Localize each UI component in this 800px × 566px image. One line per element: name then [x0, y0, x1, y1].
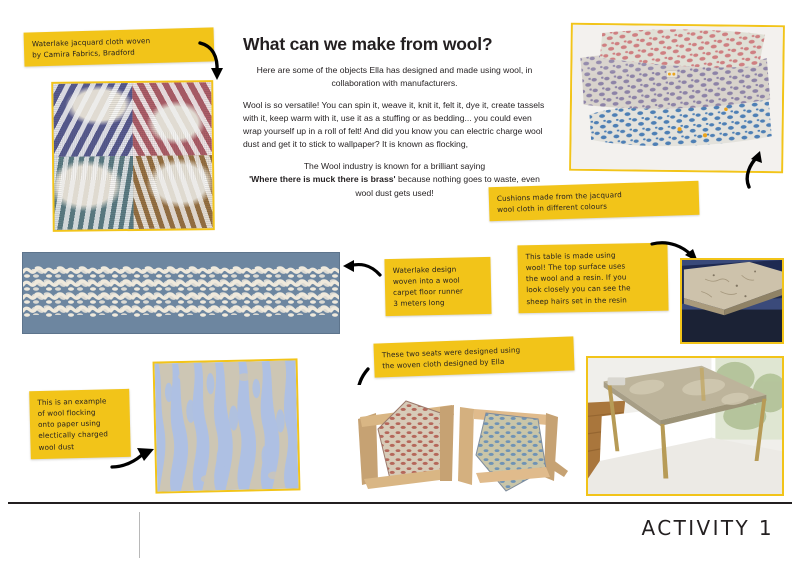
note-table: This table is made using wool! The top s… [517, 243, 668, 313]
activity-label: ACTIVITY 1 [641, 516, 774, 540]
arrow-to-cushions-photo [735, 148, 765, 190]
photo-table-corner [680, 258, 784, 344]
flock-sample-image [155, 360, 299, 491]
jacquard-swatch-image [53, 82, 213, 230]
note-jacquard: Waterlake jacquard cloth woven by Camira… [24, 27, 215, 67]
table-corner-image [682, 260, 782, 342]
note-seats: These two seats were designed using the … [373, 336, 574, 378]
footer-divider-1 [139, 512, 140, 558]
arrow-to-jacquard-photo [192, 40, 226, 84]
photo-table-full [586, 356, 784, 496]
versatile-paragraph: Wool is so versatile! You can spin it, w… [243, 99, 546, 151]
photo-seats [340, 385, 572, 497]
intro-copy: Here are some of the objects Ella has de… [243, 64, 546, 200]
table-full-image [588, 358, 782, 494]
arrow-to-flock-photo [110, 445, 156, 471]
note-runner: Waterlake design woven into a wool carpe… [384, 257, 491, 316]
carpet-runner-image [22, 252, 340, 334]
photo-carpet-runner [22, 252, 340, 334]
worksheet-page: Waterlake jacquard cloth woven by Camira… [0, 0, 800, 566]
saying-quote: 'Where there is muck there is brass' [249, 174, 395, 184]
footer: Little Inventors littleinventors.org Cre… [0, 504, 800, 566]
note-jacquard-text: Waterlake jacquard cloth woven by Camira… [32, 34, 207, 61]
note-seats-text: These two seats were designed using the … [382, 343, 567, 372]
saying-lead: The Wool industry is known for a brillia… [304, 161, 485, 171]
photo-flock-sample [153, 358, 301, 493]
note-runner-text: Waterlake design woven into a wool carpe… [393, 263, 484, 310]
photo-jacquard-cloth [51, 80, 215, 232]
arrow-to-runner-photo [342, 258, 382, 280]
note-table-text: This table is made using wool! The top s… [526, 249, 661, 307]
intro-paragraph: Here are some of the objects Ella has de… [243, 64, 546, 90]
seats-image [340, 385, 572, 497]
page-title: What can we make from wool? [243, 34, 553, 55]
note-cushions-text: Cushions made from the jacquard wool clo… [497, 187, 692, 215]
note-cushions: Cushions made from the jacquard wool clo… [489, 181, 700, 222]
